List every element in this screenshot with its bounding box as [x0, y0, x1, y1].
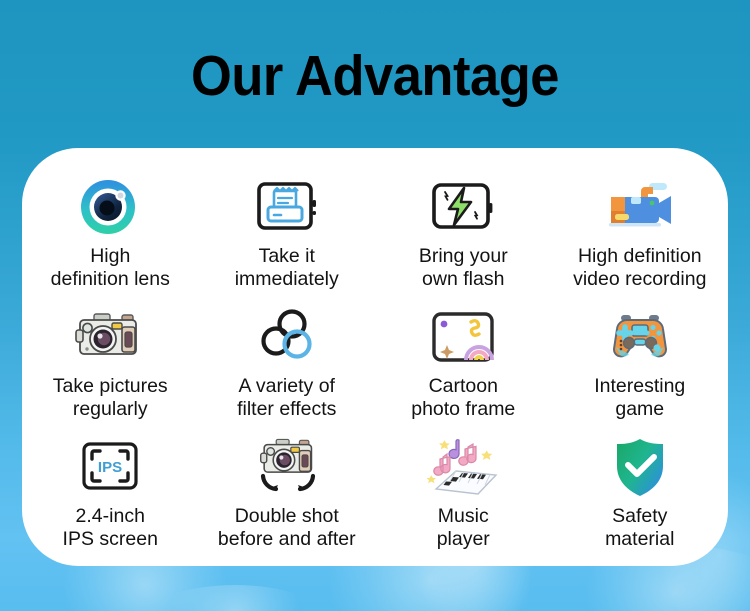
- ips-badge-text: IPS: [98, 459, 122, 476]
- feature-label: Double shot before and after: [218, 505, 356, 551]
- feature-item: High definition lens: [22, 174, 199, 304]
- feature-item: Interesting game: [552, 304, 729, 434]
- feature-label: Safety material: [605, 505, 674, 551]
- filter-circles-icon: [256, 304, 318, 370]
- feature-label: Cartoon photo frame: [411, 375, 515, 421]
- feature-label: High definition video recording: [573, 245, 706, 291]
- camera-lens-icon: [78, 174, 142, 240]
- feature-label: Interesting game: [594, 375, 685, 421]
- feature-item: A variety of filter effects: [199, 304, 376, 434]
- gamepad-icon: [607, 304, 673, 370]
- safety-shield-icon: [611, 434, 669, 500]
- feature-item: Cartoon photo frame: [375, 304, 552, 434]
- video-camcorder-icon: [605, 174, 675, 240]
- cartoon-photo-frame-icon: [430, 304, 496, 370]
- flash-bolt-icon: [430, 174, 496, 240]
- page-title: Our Advantage: [30, 46, 720, 106]
- feature-label: Music player: [437, 505, 490, 551]
- advantage-poster: Our Advantage: [0, 0, 750, 611]
- retro-camera-icon: [74, 304, 146, 370]
- features-grid: High definition lens: [22, 174, 728, 564]
- music-piano-icon: [426, 434, 500, 500]
- feature-label: Take it immediately: [235, 245, 339, 291]
- feature-label: Bring your own flash: [419, 245, 508, 291]
- features-card: High definition lens: [22, 148, 728, 566]
- feature-label: High definition lens: [51, 245, 170, 291]
- cloud-decoration: [150, 585, 320, 611]
- feature-label: Take pictures regularly: [53, 375, 168, 421]
- feature-item: Bring your own flash: [375, 174, 552, 304]
- instant-printer-icon: [255, 174, 319, 240]
- feature-item: Take pictures regularly: [22, 304, 199, 434]
- feature-label: A variety of filter effects: [237, 375, 336, 421]
- ips-screen-icon: IPS: [79, 434, 141, 500]
- feature-item: Music player: [375, 434, 552, 564]
- feature-item: High definition video recording: [552, 174, 729, 304]
- feature-item: Take it immediately: [199, 174, 376, 304]
- feature-label: 2.4-inch IPS screen: [63, 505, 158, 551]
- feature-item: Safety material: [552, 434, 729, 564]
- double-shot-camera-icon: Double shot before and after: [199, 434, 376, 564]
- feature-item: IPS 2.4-inch IPS screen: [22, 434, 199, 564]
